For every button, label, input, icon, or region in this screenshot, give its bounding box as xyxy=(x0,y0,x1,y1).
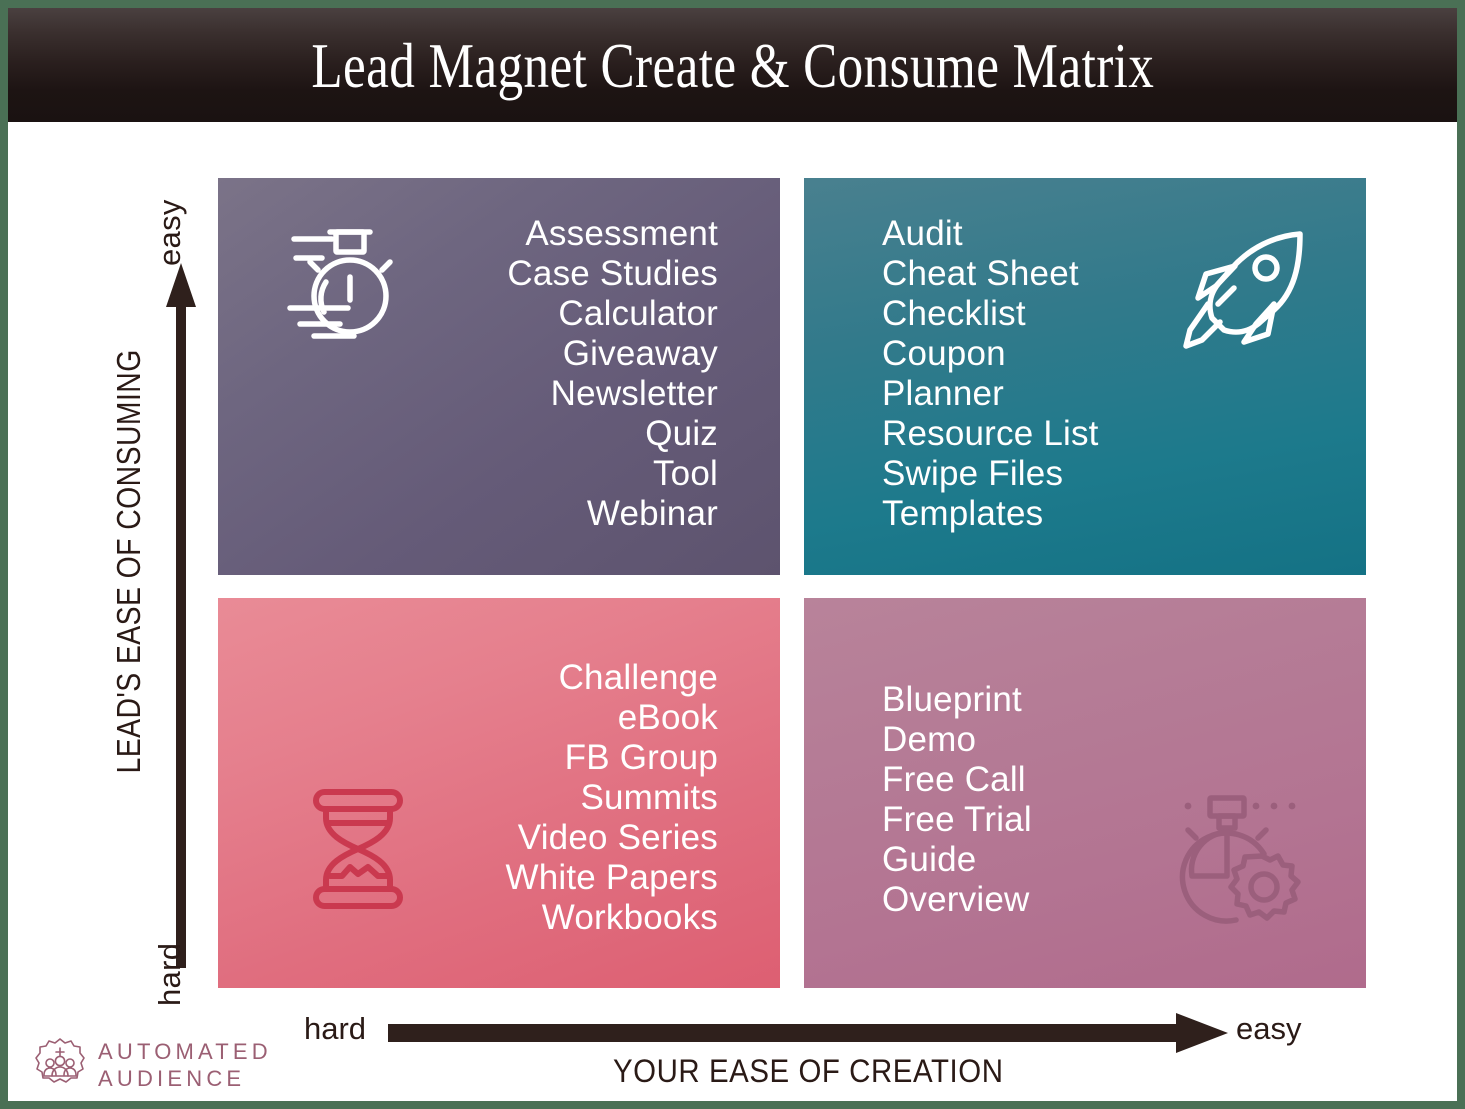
list-item: Video Series xyxy=(506,818,719,858)
quadrant-top-left: Assessment Case Studies Calculator Givea… xyxy=(218,178,780,575)
automated-audience-logo-icon xyxy=(34,1036,86,1093)
list-item: Demo xyxy=(882,720,1032,760)
logo-text-line1: AUTOMATED xyxy=(98,1038,272,1065)
list-item: Blueprint xyxy=(882,680,1032,720)
list-item: Resource List xyxy=(882,414,1099,454)
list-item: Audit xyxy=(882,214,1099,254)
quadrant-top-right: Audit Cheat Sheet Checklist Coupon Plann… xyxy=(804,178,1366,575)
list-item: Tool xyxy=(507,454,718,494)
list-item: Giveaway xyxy=(507,334,718,374)
list-item: Templates xyxy=(882,494,1099,534)
lead-magnet-matrix-infographic: Lead Magnet Create & Consume Matrix Asse… xyxy=(0,0,1465,1109)
page-title: Lead Magnet Create & Consume Matrix xyxy=(311,34,1154,98)
stopwatch-speed-icon xyxy=(284,226,414,349)
list-item: Case Studies xyxy=(507,254,718,294)
x-axis-arrow-icon xyxy=(388,1013,1228,1053)
list-item: Calculator xyxy=(507,294,718,334)
list-item: Swipe Files xyxy=(882,454,1099,494)
stopwatch-gear-icon xyxy=(1174,794,1306,939)
list-item: Webinar xyxy=(507,494,718,534)
quadrant-top-left-list: Assessment Case Studies Calculator Givea… xyxy=(507,214,718,534)
list-item: Cheat Sheet xyxy=(882,254,1099,294)
quadrant-bottom-left-list: Challenge eBook FB Group Summits Video S… xyxy=(506,658,719,938)
list-item: Overview xyxy=(882,880,1032,920)
header-bar: Lead Magnet Create & Consume Matrix xyxy=(8,8,1457,122)
list-item: Guide xyxy=(882,840,1032,880)
list-item: eBook xyxy=(506,698,719,738)
hourglass-icon xyxy=(310,788,406,915)
list-item: Newsletter xyxy=(507,374,718,414)
logo-text: AUTOMATED AUDIENCE xyxy=(98,1038,272,1092)
y-axis-arrow-icon xyxy=(166,263,196,968)
x-axis-left-label: hard xyxy=(304,1012,366,1046)
list-item: Assessment xyxy=(507,214,718,254)
logo-text-line2: AUDIENCE xyxy=(98,1065,272,1092)
rocket-icon xyxy=(1178,226,1308,361)
list-item: Free Call xyxy=(882,760,1032,800)
x-axis-title: YOUR EASE OF CREATION xyxy=(388,1054,1228,1088)
list-item: Planner xyxy=(882,374,1099,414)
list-item: White Papers xyxy=(506,858,719,898)
quadrant-bottom-left: Challenge eBook FB Group Summits Video S… xyxy=(218,598,780,988)
quadrant-bottom-right: Blueprint Demo Free Call Free Trial Guid… xyxy=(804,598,1366,988)
list-item: Quiz xyxy=(507,414,718,454)
y-axis-title-text: LEAD'S EASE OF CONSUMING xyxy=(112,349,146,773)
list-item: Free Trial xyxy=(882,800,1032,840)
list-item: Challenge xyxy=(506,658,719,698)
y-axis-top-label: easy xyxy=(154,186,194,266)
x-axis-title-text: YOUR EASE OF CREATION xyxy=(613,1054,1004,1088)
quadrant-top-right-list: Audit Cheat Sheet Checklist Coupon Plann… xyxy=(882,214,1099,534)
list-item: Checklist xyxy=(882,294,1099,334)
brand-logo: AUTOMATED AUDIENCE xyxy=(34,1036,272,1093)
list-item: Workbooks xyxy=(506,898,719,938)
list-item: FB Group xyxy=(506,738,719,778)
y-axis-title: LEAD'S EASE OF CONSUMING xyxy=(112,338,158,808)
x-axis-right-label: easy xyxy=(1236,1012,1301,1046)
list-item: Summits xyxy=(506,778,719,818)
list-item: Coupon xyxy=(882,334,1099,374)
quadrant-bottom-right-list: Blueprint Demo Free Call Free Trial Guid… xyxy=(882,680,1032,920)
y-axis-bottom-label: hard xyxy=(154,916,194,1006)
